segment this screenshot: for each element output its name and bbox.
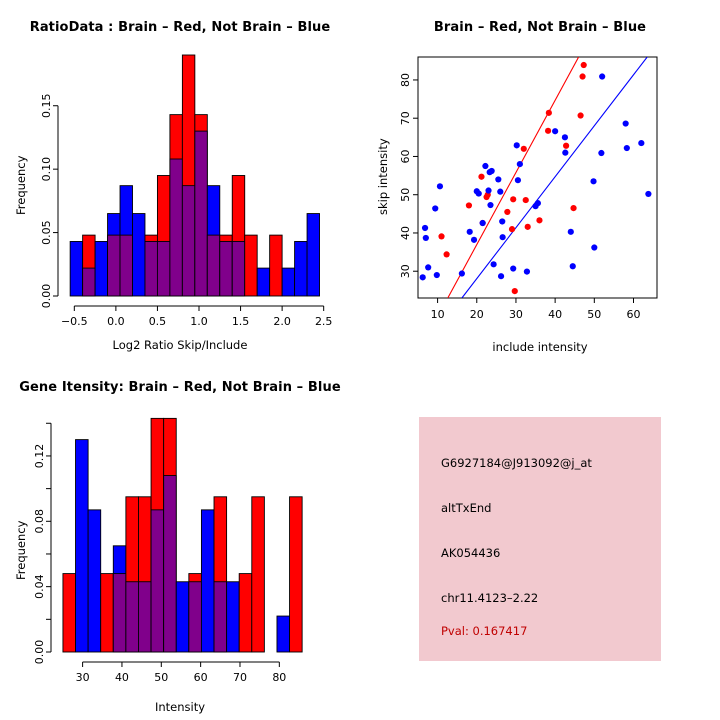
histogram-bar	[176, 582, 189, 652]
histogram-bar	[307, 214, 319, 296]
histogram-bar	[270, 235, 282, 296]
ratio-xtick: 2.0	[273, 315, 291, 328]
histogram-bar	[252, 497, 265, 652]
gene-xtick: 60	[194, 671, 208, 684]
panel-ratio-histogram: RatioData : Brain – Red, Not Brain – Blu…	[0, 0, 360, 360]
scatter-point	[577, 112, 583, 118]
gene-ytick: 0.00	[33, 640, 46, 665]
scatter-ytick: 60	[399, 149, 412, 163]
ratio-histogram-plot: 0.000.050.100.15−0.50.00.51.01.52.02.5	[0, 0, 360, 360]
histogram-bar	[133, 214, 145, 296]
histogram-bar	[227, 582, 240, 652]
ratio-ytick: 0.10	[40, 157, 53, 182]
scatter-xtick: 20	[470, 308, 484, 321]
scatter-ytick: 70	[399, 111, 412, 125]
histogram-bar	[282, 268, 294, 296]
panel-intensity-scatter: Brain – Red, Not Brain – Blue include in…	[360, 0, 720, 360]
scatter-point	[570, 263, 576, 269]
histogram-bar	[290, 497, 303, 652]
scatter-point	[623, 120, 629, 126]
histogram-bar-overlap	[120, 235, 132, 296]
scatter-point	[512, 288, 518, 294]
scatter-point	[482, 163, 488, 169]
scatter-point	[459, 270, 465, 276]
scatter-point	[476, 190, 482, 196]
gene-xtick: 50	[154, 671, 168, 684]
scatter-point	[590, 178, 596, 184]
histogram-bar	[70, 241, 82, 296]
scatter-ytick: 30	[399, 264, 412, 278]
figure-canvas: RatioData : Brain – Red, Not Brain – Blu…	[0, 0, 720, 720]
accession-text: AK054436	[441, 546, 500, 560]
scatter-frame	[418, 57, 657, 298]
probe-info-box: G6927184@J913092@j_at altTxEnd AK054436 …	[419, 417, 661, 661]
panel-probe-info: G6927184@J913092@j_at altTxEnd AK054436 …	[360, 360, 720, 720]
scatter-point	[599, 73, 605, 79]
gene-bars	[63, 418, 302, 652]
scatter-xtick: 30	[509, 308, 523, 321]
histogram-bar-overlap	[207, 235, 219, 296]
scatter-point	[480, 220, 486, 226]
scatter-point	[437, 183, 443, 189]
scatter-ytick: 50	[399, 188, 412, 202]
histogram-bar	[63, 574, 76, 652]
scatter-point	[591, 244, 597, 250]
scatter-point	[562, 150, 568, 156]
scatter-point	[521, 146, 527, 152]
histogram-bar	[101, 574, 114, 652]
scatter-point	[524, 269, 530, 275]
ratio-ytick: 0.15	[40, 93, 53, 118]
histogram-bar-overlap	[232, 241, 244, 296]
gene-ytick: 0.04	[33, 574, 46, 599]
scatter-point	[471, 237, 477, 243]
ratio-ytick: 0.00	[40, 284, 53, 309]
histogram-bar	[88, 510, 101, 652]
ratio-xtick: 1.0	[190, 315, 208, 328]
probe-id-text: G6927184@J913092@j_at	[441, 456, 592, 470]
scatter-point	[498, 273, 504, 279]
scatter-point	[422, 225, 428, 231]
scatter-axes	[413, 80, 633, 303]
histogram-bar	[201, 510, 214, 652]
scatter-point	[598, 150, 604, 156]
histogram-bar-overlap	[182, 186, 194, 296]
scatter-point	[438, 233, 444, 239]
scatter-point	[432, 205, 438, 211]
scatter-xtick: 10	[431, 308, 445, 321]
gene-xtick: 70	[233, 671, 247, 684]
histogram-bar-overlap	[138, 582, 151, 652]
scatter-point	[525, 224, 531, 230]
scatter-point	[510, 265, 516, 271]
scatter-point	[509, 226, 515, 232]
scatter-plot: 102030405060304050607080	[360, 0, 720, 360]
panel-gene-intensity-histogram: Gene Itensity: Brain – Red, Not Brain – …	[0, 360, 360, 720]
scatter-point	[638, 140, 644, 146]
histogram-bar-overlap	[195, 131, 207, 296]
gene-histogram-plot: 0.000.040.080.12304050607080	[0, 360, 360, 720]
gene-ytick: 0.08	[33, 509, 46, 534]
scatter-point	[545, 128, 551, 134]
scatter-xtick: 60	[626, 308, 640, 321]
scatter-point	[497, 189, 503, 195]
histogram-bar	[239, 574, 252, 652]
scatter-point	[562, 134, 568, 140]
gene-xtick: 30	[76, 671, 90, 684]
ratio-bars	[70, 55, 319, 296]
gene-xtick: 80	[272, 671, 286, 684]
scatter-point	[489, 168, 495, 174]
scatter-point	[535, 200, 541, 206]
scatter-point	[510, 196, 516, 202]
histogram-bar	[257, 268, 269, 296]
ratio-ytick: 0.05	[40, 220, 53, 245]
scatter-point	[568, 229, 574, 235]
scatter-point	[423, 235, 429, 241]
histogram-bar-overlap	[214, 582, 227, 652]
scatter-point	[624, 145, 630, 151]
scatter-ytick: 80	[399, 73, 412, 87]
scatter-fit-lines	[448, 57, 647, 298]
histogram-bar	[245, 235, 257, 296]
scatter-point	[487, 202, 493, 208]
scatter-xtick: 40	[548, 308, 562, 321]
scatter-point	[536, 217, 542, 223]
scatter-point	[491, 261, 497, 267]
scatter-point	[579, 73, 585, 79]
scatter-point	[499, 218, 505, 224]
scatter-point	[645, 191, 651, 197]
scatter-point	[515, 177, 521, 183]
scatter-point	[478, 174, 484, 180]
scatter-point	[420, 274, 426, 280]
scatter-point	[467, 229, 473, 235]
histogram-bar-overlap	[170, 159, 182, 296]
scatter-point	[425, 264, 431, 270]
scatter-point	[466, 202, 472, 208]
histogram-bar-overlap	[108, 235, 120, 296]
histogram-bar-overlap	[83, 268, 95, 296]
scatter-point	[434, 272, 440, 278]
ratio-xtick: 2.5	[315, 315, 333, 328]
ratio-xtick: 0.0	[107, 315, 125, 328]
histogram-bar-overlap	[189, 582, 202, 652]
event-type-text: altTxEnd	[441, 501, 491, 515]
scatter-xtick: 50	[587, 308, 601, 321]
histogram-bar-overlap	[126, 582, 139, 652]
histogram-bar	[76, 440, 89, 652]
scatter-point	[523, 197, 529, 203]
histogram-bar-overlap	[145, 241, 157, 296]
histogram-bar-overlap	[220, 241, 232, 296]
histogram-bar	[295, 241, 307, 296]
histogram-bar	[277, 616, 290, 652]
scatter-point	[485, 187, 491, 193]
regression-line	[448, 57, 579, 298]
ratio-xtick: 1.5	[232, 315, 250, 328]
histogram-bar-overlap	[164, 476, 177, 652]
scatter-point	[504, 209, 510, 215]
scatter-point	[563, 143, 569, 149]
scatter-point	[500, 234, 506, 240]
gene-xtick: 40	[115, 671, 129, 684]
ratio-xtick: −0.5	[61, 315, 88, 328]
histogram-bar	[95, 241, 107, 296]
scatter-point	[570, 205, 576, 211]
histogram-bar-overlap	[113, 574, 126, 652]
locus-text: chr11.4123–2.22	[441, 591, 538, 605]
regression-line	[462, 57, 647, 298]
scatter-point	[514, 142, 520, 148]
scatter-point	[552, 128, 558, 134]
scatter-ytick: 40	[399, 226, 412, 240]
scatter-point	[517, 161, 523, 167]
scatter-point	[581, 62, 587, 68]
scatter-point	[444, 251, 450, 257]
histogram-bar-overlap	[151, 510, 164, 652]
scatter-point	[546, 110, 552, 116]
ratio-xtick: 0.5	[149, 315, 167, 328]
scatter-point	[495, 176, 501, 182]
pvalue-text: Pval: 0.167417	[441, 624, 527, 638]
histogram-bar-overlap	[157, 241, 169, 296]
gene-ytick: 0.12	[33, 444, 46, 469]
